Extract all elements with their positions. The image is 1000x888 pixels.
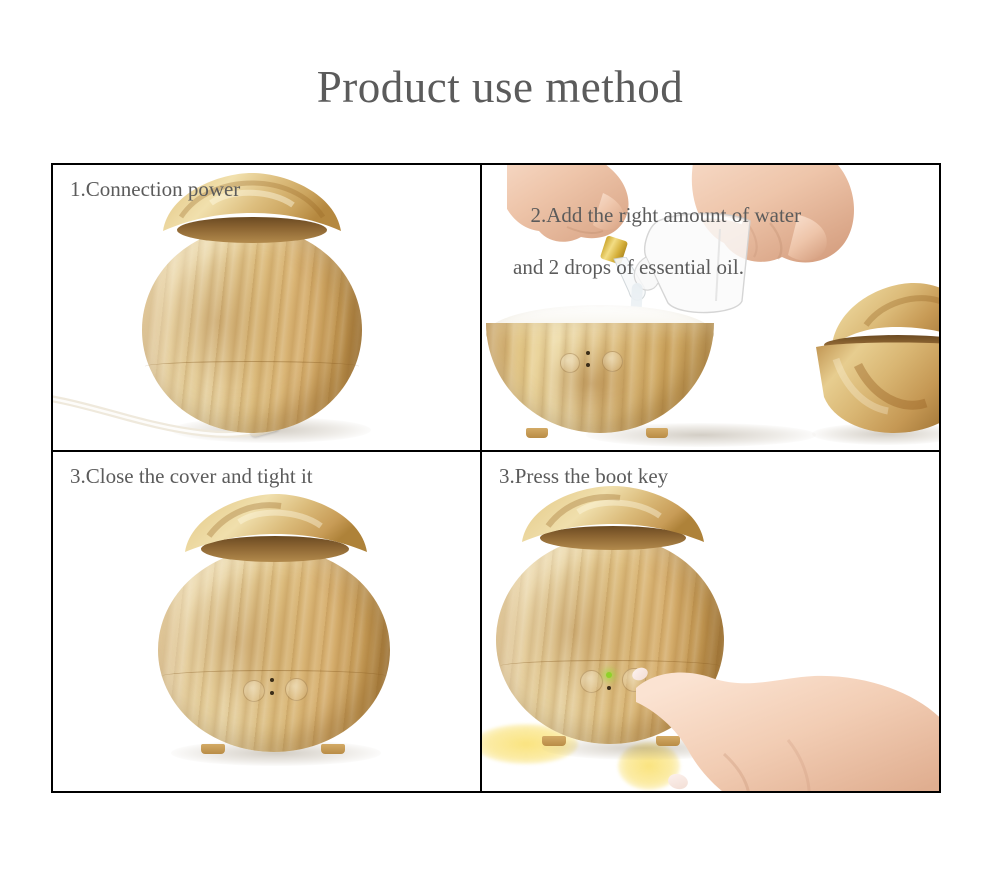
step-cell-4: 3.Press the boot key	[482, 452, 939, 791]
diffuser-foot-right	[321, 744, 345, 754]
pressing-hand	[628, 662, 939, 791]
led-indicator-bottom	[586, 363, 590, 367]
led-indicator-top	[586, 351, 590, 355]
led-indicator-top	[270, 678, 274, 682]
step-4-illustration	[482, 452, 939, 791]
step-3-illustration	[53, 452, 480, 791]
led-power-on	[606, 672, 612, 678]
diffuser-body	[158, 548, 390, 752]
step-cell-3: 3.Close the cover and tight it	[53, 452, 482, 791]
diffuser-lid	[518, 486, 708, 550]
diffuser-body	[142, 227, 362, 433]
bowl-foot-left	[526, 428, 548, 438]
led-indicator-bottom	[270, 691, 274, 695]
mist-button[interactable]	[560, 353, 580, 373]
body-seam	[161, 670, 387, 683]
led-indicator-bottom	[607, 686, 611, 690]
diffuser-foot-left	[542, 736, 566, 746]
mist-button[interactable]	[243, 680, 265, 702]
detached-lid-base	[814, 341, 939, 435]
page-title: Product use method	[0, 58, 1000, 116]
diffuser-foot-left	[201, 744, 225, 754]
bowl-base	[486, 323, 714, 433]
step-cell-1: 1.Connection power	[53, 165, 482, 452]
detached-lid-group	[814, 283, 939, 435]
mist-button[interactable]	[580, 670, 603, 693]
body-seam	[145, 361, 359, 372]
steps-grid: 1.Connection power	[51, 163, 941, 793]
step-1-illustration	[53, 165, 480, 450]
diffuser-lid	[181, 494, 371, 560]
step-2-illustration	[482, 165, 939, 450]
power-button[interactable]	[285, 678, 308, 701]
bowl-foot-right	[646, 428, 668, 438]
diffuser-lid	[159, 173, 345, 239]
step-cell-2: 2.Add the right amount of water and 2 dr…	[482, 165, 939, 452]
light-button[interactable]	[602, 351, 623, 372]
